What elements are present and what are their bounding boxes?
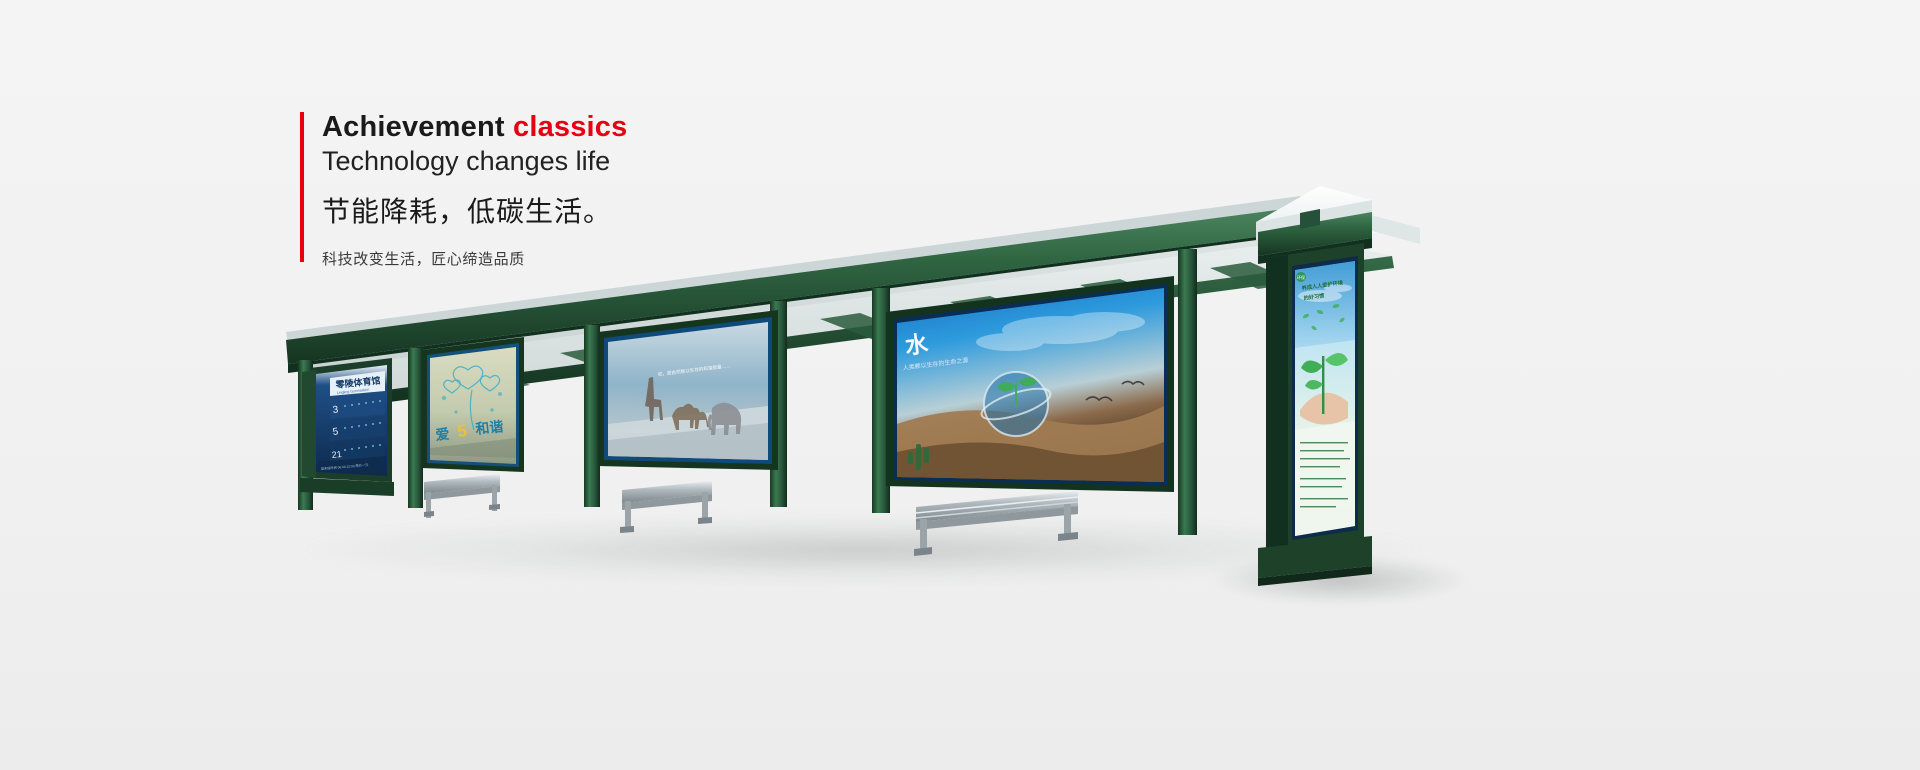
panel-ad-1[interactable]: 爱 5 和谐 xyxy=(422,337,524,472)
shelter-illustration: 零陵体育馆 Lingling Gymnasium 3 5 21 xyxy=(0,0,1920,770)
bus-shelter-product: 零陵体育馆 Lingling Gymnasium 3 5 21 xyxy=(0,0,1920,770)
svg-text:21: 21 xyxy=(331,449,342,460)
bench-1 xyxy=(424,474,500,518)
svg-text:5: 5 xyxy=(456,421,467,441)
svg-text:水: 水 xyxy=(903,330,930,359)
eco-logo-badge: 环保 xyxy=(1296,272,1306,282)
svg-text:环保: 环保 xyxy=(1297,274,1305,280)
bench-2 xyxy=(620,481,712,533)
banner-stage: Achievement classics Technology changes … xyxy=(0,0,1920,770)
panel-ad-3[interactable]: 水 人类赖以生存的生命之源 xyxy=(886,276,1174,492)
svg-text:爱: 爱 xyxy=(435,426,451,443)
svg-text:和谐: 和谐 xyxy=(475,418,505,437)
bench-3 xyxy=(914,491,1078,556)
panel-ad-2[interactable]: 和，是自然赖以生存的和谐能量…… xyxy=(598,310,778,470)
vertical-lightbox-tower[interactable]: 养成人人爱护环境 的好习惯 xyxy=(1256,186,1372,586)
panel-route-timetable[interactable]: 零陵体育馆 Lingling Gymnasium 3 5 21 xyxy=(302,358,392,482)
